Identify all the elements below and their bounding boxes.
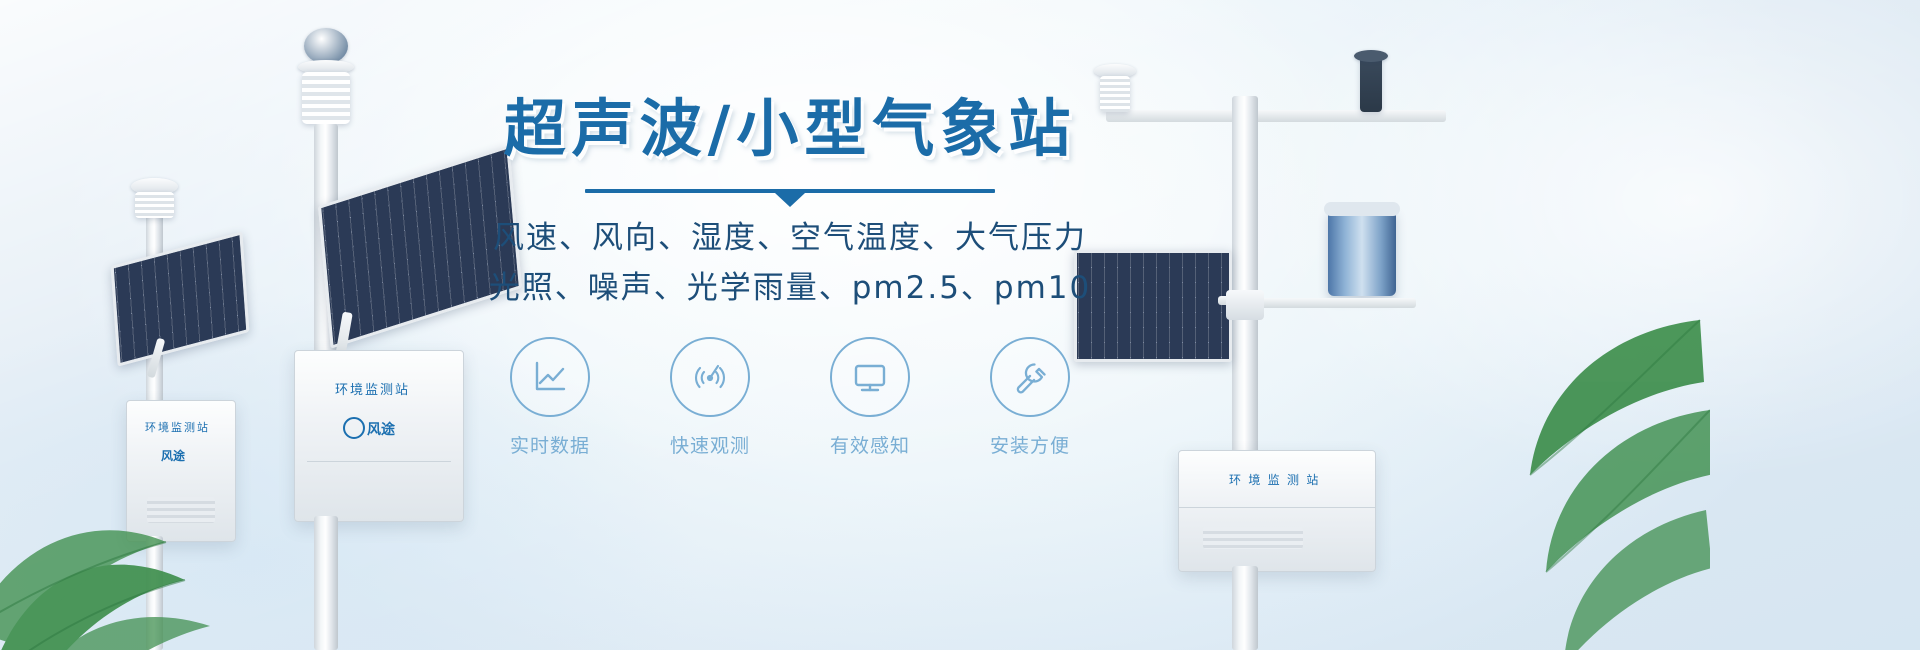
cabinet-brand-label: 风途 — [367, 419, 395, 439]
feature-item-easy-installation[interactable]: 安装方便 — [974, 337, 1086, 458]
subtitle-line-1: 风速、风向、湿度、空气温度、大气压力 — [440, 213, 1140, 263]
lower-mast — [314, 516, 338, 650]
subtitle-block: 风速、风向、湿度、空气温度、大气压力 光照、噪声、光学雨量、pm2.5、pm10 — [440, 213, 1140, 313]
line-chart-icon — [530, 357, 570, 397]
feature-label: 快速观测 — [654, 431, 766, 458]
wind-vane-sensor — [1360, 56, 1382, 112]
feature-icon-circle — [510, 337, 590, 417]
rain-bucket-lid — [1324, 202, 1400, 216]
cabinet-label: 环境监测站 — [335, 379, 410, 398]
feature-item-realtime-data[interactable]: 实时数据 — [494, 337, 606, 458]
feature-icon-circle — [990, 337, 1070, 417]
cabinet-door-seam — [1179, 507, 1375, 508]
mast-collar — [1226, 290, 1264, 320]
rain-gauge-dome — [304, 28, 348, 64]
feature-item-effective-sensing[interactable]: 有效感知 — [814, 337, 926, 458]
radiation-shield-stack — [302, 72, 350, 124]
banner-content: 超声波/小型气象站 风速、风向、湿度、空气温度、大气压力 光照、噪声、光学雨量、… — [440, 96, 1140, 458]
radar-signal-icon — [690, 357, 730, 397]
tropical-leaf-bottom-left — [0, 330, 280, 650]
divider — [585, 189, 995, 193]
wind-cup-top — [1354, 50, 1388, 62]
feature-icon-circle — [830, 337, 910, 417]
cabinet-door-seam — [307, 461, 451, 462]
feature-label: 有效感知 — [814, 431, 926, 458]
cross-arm — [1106, 110, 1446, 122]
monitor-icon — [850, 357, 890, 397]
divider-triangle-marker — [775, 193, 805, 207]
subtitle-line-2: 光照、噪声、光学雨量、pm2.5、pm10 — [440, 263, 1140, 313]
weather-station-banner: 环境监测站 风途 环境监测站 风途 — [0, 0, 1920, 650]
feature-icon-circle — [670, 337, 750, 417]
cabinet-logo-icon — [343, 417, 365, 439]
wrench-icon — [1010, 357, 1050, 397]
equipment-cabinet: 环 境 监 测 站 — [1178, 450, 1376, 572]
page-title: 超声波/小型气象站 — [440, 96, 1140, 163]
lower-mast — [1232, 566, 1258, 650]
cabinet-vent — [1203, 527, 1303, 549]
equipment-cabinet: 环境监测站 风途 — [294, 350, 464, 522]
sensor-radiation-shield — [135, 192, 174, 218]
feature-list: 实时数据 快速观测 — [440, 337, 1140, 458]
tropical-leaf-bottom-right — [1380, 260, 1710, 650]
feature-item-fast-observation[interactable]: 快速观测 — [654, 337, 766, 458]
feature-label: 实时数据 — [494, 431, 606, 458]
feature-label: 安装方便 — [974, 431, 1086, 458]
cabinet-label: 环 境 监 测 站 — [1229, 471, 1320, 488]
